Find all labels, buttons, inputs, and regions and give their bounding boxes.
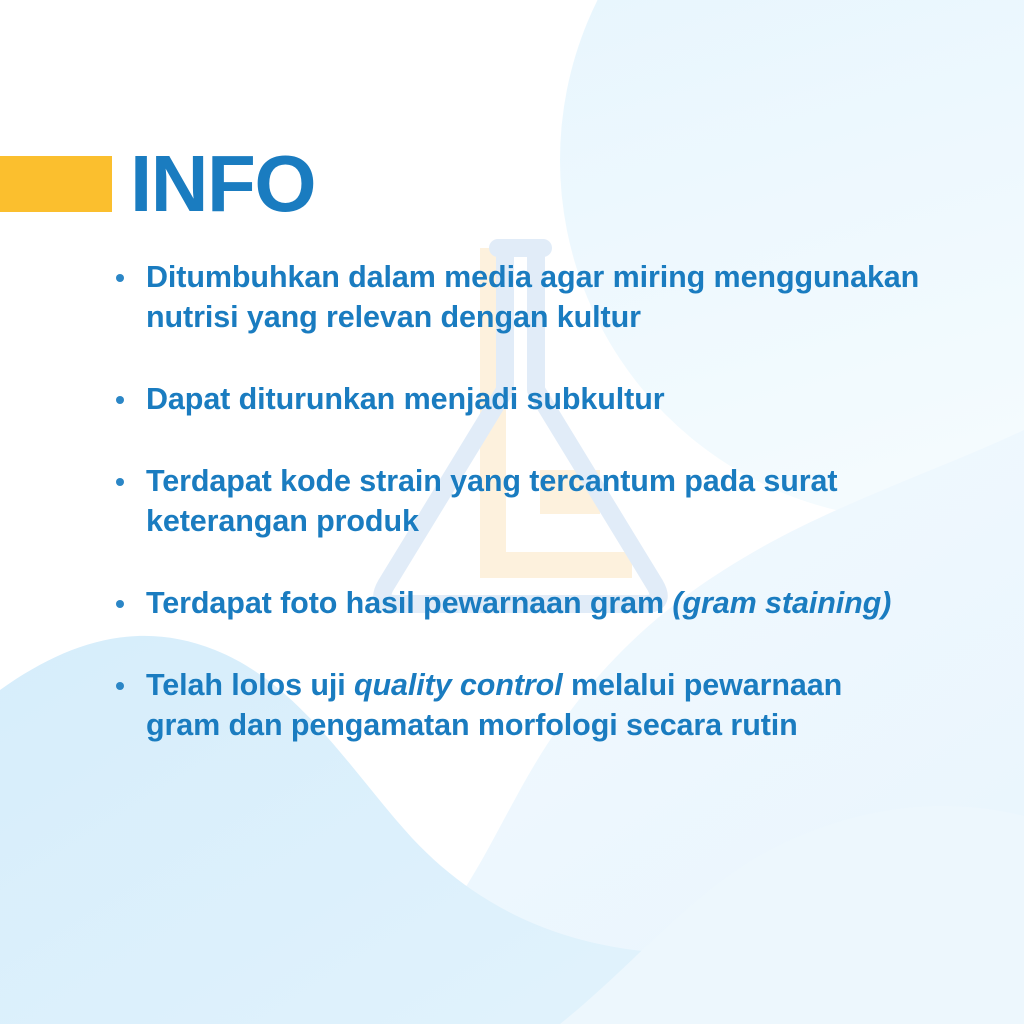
list-item-text: Telah lolos uji quality control melalui …: [146, 666, 920, 746]
list-item: Dapat diturunkan menjadi subkultur: [108, 380, 920, 420]
list-item: Telah lolos uji quality control melalui …: [108, 666, 920, 746]
bullet-dot-icon: [116, 274, 124, 282]
page-title: INFO: [112, 151, 315, 217]
list-item: Ditumbuhkan dalam media agar miring meng…: [108, 258, 920, 338]
list-item-text: Terdapat foto hasil pewarnaan gram (gram…: [146, 584, 920, 624]
bullet-dot-icon: [116, 682, 124, 690]
list-item-text: Terdapat kode strain yang tercantum pada…: [146, 462, 920, 542]
bullet-dot-icon: [116, 600, 124, 608]
list-item: Terdapat kode strain yang tercantum pada…: [108, 462, 920, 542]
accent-bar: [0, 156, 112, 212]
info-bullet-list: Ditumbuhkan dalam media agar miring meng…: [108, 258, 920, 746]
slide-header: INFO: [0, 151, 315, 217]
decorative-wave-accent: [560, 806, 1024, 1024]
list-item-text: Dapat diturunkan menjadi subkultur: [146, 380, 920, 420]
list-item-text: Ditumbuhkan dalam media agar miring meng…: [146, 258, 920, 338]
info-slide: INFO Ditumbuhkan dalam media agar miring…: [0, 0, 1024, 1024]
bullet-dot-icon: [116, 478, 124, 486]
bullet-dot-icon: [116, 396, 124, 404]
list-item: Terdapat foto hasil pewarnaan gram (gram…: [108, 584, 920, 624]
